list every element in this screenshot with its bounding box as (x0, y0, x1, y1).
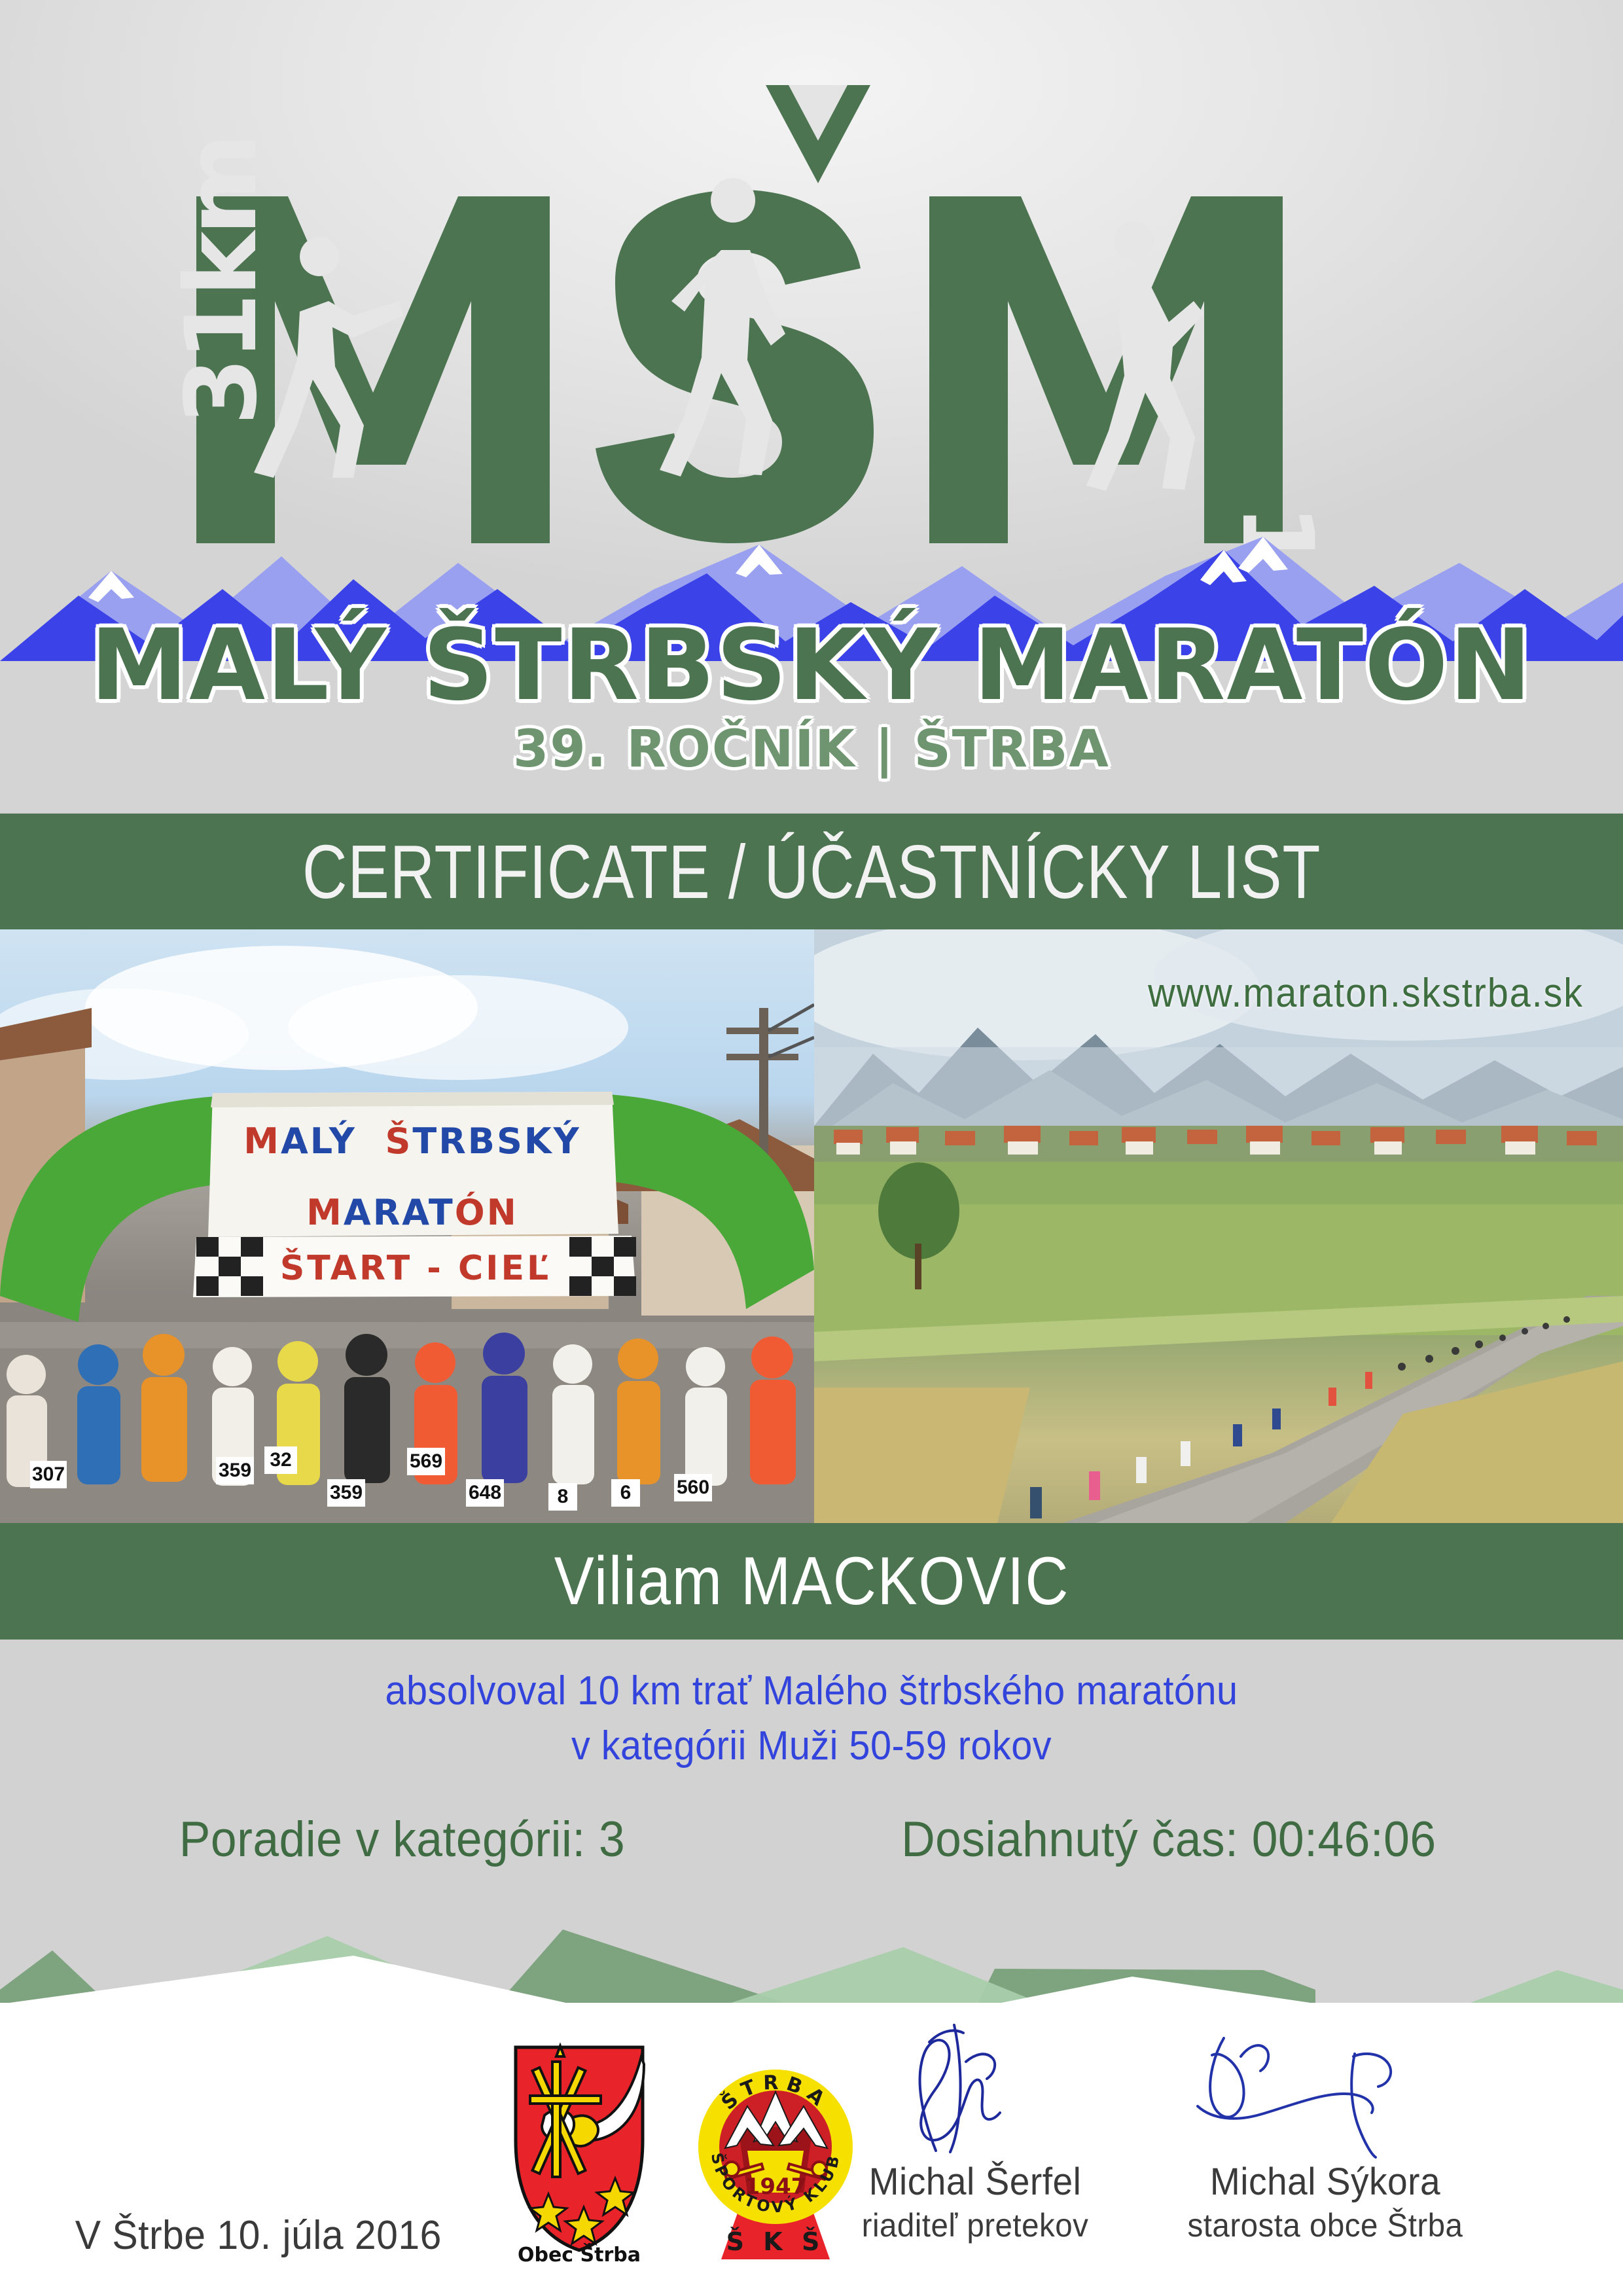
participant-name-banner: Viliam MACKOVIC (0, 1523, 1623, 1640)
start-finish-text: ŠTART - CIEĽ (216, 1249, 615, 1288)
website-url: www.maraton.skstrba.sk (1148, 970, 1584, 1016)
bib-number: 6 (611, 1479, 640, 1507)
bib-number: 32 (264, 1446, 297, 1474)
finish-time: Dosiahnutý čas: 00:46:06 (901, 1811, 1436, 1868)
achievement-line-1: absolvoval 10 km trať Malého štrbského m… (57, 1668, 1566, 1714)
stats-row: Poradie v kategórii: 3 Dosiahnutý čas: 0… (0, 1811, 1623, 1868)
arch-line1-part1: M (243, 1121, 281, 1162)
signature-name: Michal Šerfel (845, 2160, 1106, 2204)
arch-line1-part4: TRBSKÝ (412, 1121, 580, 1162)
bib-number: 560 (674, 1474, 712, 1501)
signature-name: Michal Sýkora (1185, 2160, 1465, 2204)
certificate-banner-text: CERTIFICATE / ÚČASTNÍCKY LIST (302, 828, 1321, 916)
signature-block-director: Michal Šerfel riaditeľ pretekov (838, 2022, 1113, 2244)
arch-line2-part3: ÓN (455, 1192, 518, 1233)
photo-landscape: www.maraton.skstrba.sk (814, 929, 1623, 1523)
bib-number: 569 (407, 1448, 445, 1475)
bib-number: 307 (30, 1461, 67, 1488)
certificate-body: absolvoval 10 km trať Malého štrbského m… (0, 1640, 1623, 1914)
logo-header: 31km 10km 31km 10km MŠM MALÝ ŠTRBSKÝ MAR… (0, 0, 1623, 812)
bib-number: 359 (216, 1457, 254, 1484)
photo-start-line: MALÝ ŠTRBSKÝ MARATÓN MALÝ ŠTRBSKÝ MARATÓ… (0, 929, 814, 1523)
certificate-page: 31km 10km 31km 10km MŠM MALÝ ŠTRBSKÝ MAR… (0, 0, 1623, 2296)
signature-icon (838, 2022, 1113, 2160)
signature-block-mayor: Michal Sýkora starosta obce Štrba (1178, 2022, 1472, 2244)
achievement-line-2: v kategórii Muži 50-59 rokov (57, 1723, 1566, 1769)
certificate-footer: V Štrbe 10. júla 2016 (0, 2003, 1623, 2296)
arch-banner: MALÝ ŠTRBSKÝ MARATÓN (216, 1121, 609, 1233)
event-title: MALÝ ŠTRBSKÝ MARATÓN (0, 609, 1623, 723)
arch-line2-part2: ARAT (344, 1192, 455, 1233)
landscape-scene (814, 929, 1623, 1523)
certificate-banner: CERTIFICATE / ÚČASTNÍCKY LIST (0, 814, 1623, 929)
arch-line2-part1: M (306, 1192, 344, 1233)
bib-number: 8 (548, 1483, 577, 1511)
sks-bottom-text: Š K Š (726, 2227, 825, 2256)
obec-strba-emblem: Obec Štrba Obec Štrba (504, 2042, 654, 2265)
bib-number: 648 (466, 1479, 504, 1507)
sks-strba-emblem: 1947 ŠTRBA ŠPORTOVÝ KLUB Š K Š (694, 2029, 857, 2265)
signature-role: starosta obce Štrba (1185, 2206, 1465, 2244)
bib-number: 359 (327, 1479, 365, 1507)
event-subtitle: 39. ROČNÍK | ŠTRBA (0, 720, 1623, 779)
svg-text:31km: 31km (165, 137, 279, 425)
issue-date: V Štrbe 10. júla 2016 (75, 2212, 442, 2259)
arch-line1-part2: ALÝ (281, 1121, 357, 1162)
signature-icon (1178, 2022, 1472, 2160)
participant-name: Viliam MACKOVIC (554, 1543, 1069, 1621)
category-rank: Poradie v kategórii: 3 (179, 1811, 625, 1868)
arch-line1-part3: Š (385, 1121, 412, 1162)
photo-strip: MALÝ ŠTRBSKÝ MARATÓN MALÝ ŠTRBSKÝ MARATÓ… (0, 929, 1623, 1523)
obec-caption: Obec Štrba (518, 2242, 641, 2265)
signature-role: riaditeľ pretekov (845, 2206, 1106, 2244)
